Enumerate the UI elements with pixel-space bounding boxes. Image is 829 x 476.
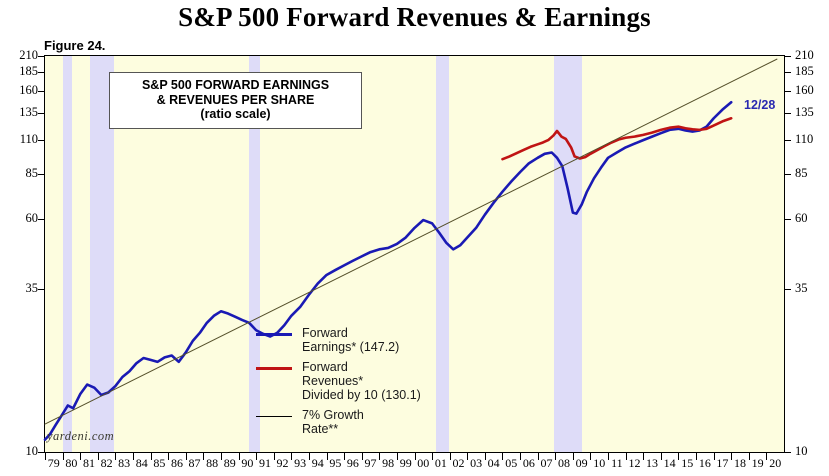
x-axis-tick-mark: [186, 453, 187, 460]
y-axis-tick-mark: [785, 452, 791, 453]
y-axis-tick-label: 85: [4, 166, 38, 181]
x-axis-tick-mark: [239, 453, 240, 460]
x-axis-tick-mark: [168, 453, 169, 460]
y-axis-tick-mark: [38, 91, 44, 92]
chart-caption-box: S&P 500 FORWARD EARNINGS & REVENUES PER …: [109, 72, 362, 129]
legend-item: Forward Earnings* (147.2): [256, 326, 446, 354]
y-axis-tick-label: 35: [795, 281, 829, 296]
x-axis-tick-mark: [221, 453, 222, 460]
caption-line-2: & REVENUES PER SHARE: [114, 93, 357, 108]
x-axis-tick-mark: [274, 453, 275, 460]
x-axis-tick-mark: [256, 453, 257, 460]
y-axis-tick-label: 10: [795, 444, 829, 459]
x-axis-tick-mark: [590, 453, 591, 460]
y-axis-tick-label: 185: [795, 64, 829, 79]
x-axis-tick-mark: [573, 453, 574, 460]
legend-item: Forward Revenues* Divided by 10 (130.1): [256, 360, 446, 402]
legend-item: 7% Growth Rate**: [256, 408, 446, 436]
x-axis-tick-mark: [731, 453, 732, 460]
legend-color-swatch: [256, 333, 292, 336]
y-axis-tick-mark: [785, 174, 791, 175]
y-axis-tick-mark: [38, 140, 44, 141]
y-axis-tick-mark: [38, 72, 44, 73]
y-axis-tick-label: 135: [795, 105, 829, 120]
legend-label: Forward Earnings* (147.2): [302, 326, 446, 354]
x-axis-tick-mark: [98, 453, 99, 460]
caption-line-1: S&P 500 FORWARD EARNINGS: [114, 78, 357, 93]
y-axis-tick-label: 60: [4, 211, 38, 226]
x-axis-tick-mark: [327, 453, 328, 460]
y-axis-tick-label: 160: [795, 83, 829, 98]
legend-color-swatch: [256, 367, 292, 370]
x-axis-tick-mark: [538, 453, 539, 460]
x-axis-tick-mark: [450, 453, 451, 460]
y-axis-tick-mark: [785, 113, 791, 114]
y-axis-tick-mark: [785, 140, 791, 141]
x-axis-tick-mark: [766, 453, 767, 460]
y-axis-tick-label: 35: [4, 281, 38, 296]
x-axis-tick-mark: [696, 453, 697, 460]
x-axis-tick-mark: [415, 453, 416, 460]
x-axis-tick-mark: [661, 453, 662, 460]
y-axis-tick-label: 135: [4, 105, 38, 120]
x-axis-tick-mark: [362, 453, 363, 460]
watermark: yardeni.com: [47, 429, 114, 444]
x-axis-tick-mark: [203, 453, 204, 460]
y-axis-tick-mark: [785, 219, 791, 220]
y-axis-tick-mark: [38, 174, 44, 175]
x-axis-tick-mark: [80, 453, 81, 460]
y-axis-tick-mark: [785, 91, 791, 92]
x-axis-tick-mark: [749, 453, 750, 460]
y-axis-tick-label: 110: [4, 132, 38, 147]
x-axis-tick-mark: [291, 453, 292, 460]
x-axis-tick-mark: [643, 453, 644, 460]
legend-label: 7% Growth Rate**: [302, 408, 446, 436]
y-axis-tick-label: 210: [795, 48, 829, 63]
x-axis-tick-mark: [45, 453, 46, 460]
x-axis-tick-mark: [626, 453, 627, 460]
y-axis-tick-mark: [38, 113, 44, 114]
x-axis-tick-mark: [397, 453, 398, 460]
y-axis-tick-label: 60: [795, 211, 829, 226]
x-axis-tick-mark: [485, 453, 486, 460]
y-axis-tick-mark: [38, 289, 44, 290]
x-axis-tick-mark: [555, 453, 556, 460]
x-axis-tick-mark: [678, 453, 679, 460]
y-axis-tick-mark: [785, 289, 791, 290]
legend-color-swatch: [256, 416, 292, 417]
x-axis-tick-mark: [502, 453, 503, 460]
x-axis-tick-mark: [379, 453, 380, 460]
x-axis-tick-mark: [63, 453, 64, 460]
chart-legend: Forward Earnings* (147.2)Forward Revenue…: [256, 326, 446, 442]
figure-label: Figure 24.: [44, 38, 105, 53]
x-axis-tick-mark: [309, 453, 310, 460]
y-axis-tick-label: 160: [4, 83, 38, 98]
y-axis-tick-mark: [38, 56, 44, 57]
y-axis-tick-label: 10: [4, 444, 38, 459]
end-value-annotation: 12/28: [744, 98, 775, 112]
x-axis-tick-mark: [133, 453, 134, 460]
page-title: S&P 500 Forward Revenues & Earnings: [0, 2, 829, 33]
x-axis-tick-mark: [151, 453, 152, 460]
y-axis-tick-mark: [38, 452, 44, 453]
x-axis-tick-mark: [115, 453, 116, 460]
x-axis-tick-mark: [608, 453, 609, 460]
y-axis-tick-label: 85: [795, 166, 829, 181]
x-axis-tick-mark: [344, 453, 345, 460]
y-axis-tick-mark: [785, 72, 791, 73]
y-axis-tick-label: 110: [795, 132, 829, 147]
x-axis-tick-mark: [432, 453, 433, 460]
caption-line-3: (ratio scale): [114, 107, 357, 122]
x-axis-tick-mark: [520, 453, 521, 460]
y-axis-tick-mark: [785, 56, 791, 57]
legend-label: Forward Revenues* Divided by 10 (130.1): [302, 360, 446, 402]
y-axis-tick-label: 185: [4, 64, 38, 79]
x-axis-tick-mark: [714, 453, 715, 460]
x-axis-tick-label: 20: [764, 456, 786, 471]
y-axis-tick-mark: [38, 219, 44, 220]
x-axis-tick-mark: [467, 453, 468, 460]
y-axis-tick-label: 210: [4, 48, 38, 63]
